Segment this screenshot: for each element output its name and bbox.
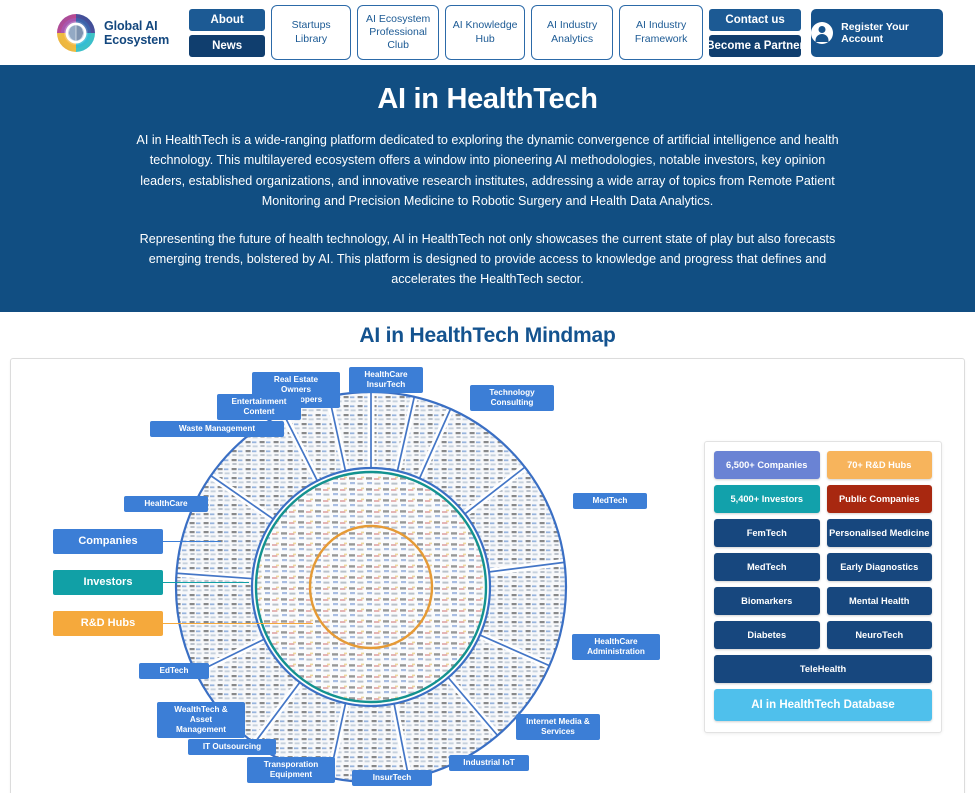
legend-item-femtech[interactable]: FemTech [714, 519, 820, 547]
ring-label-rd-hubs[interactable]: R&D Hubs [53, 611, 163, 637]
nav-stack-right: Contact us Become a Partner [709, 9, 801, 57]
sector-label-industrial-iot[interactable]: Industrial IoT [449, 755, 529, 771]
legend-item-biomarkers[interactable]: Biomarkers [714, 587, 820, 615]
sector-label-healthcare-insurtech[interactable]: HealthCare InsurTech [349, 367, 423, 394]
legend-item-diabetes[interactable]: Diabetes [714, 621, 820, 649]
sector-label-medtech[interactable]: MedTech [573, 493, 647, 509]
ring-label-investors[interactable]: Investors [53, 570, 163, 596]
legend-item-medtech[interactable]: MedTech [714, 553, 820, 581]
legend-item-investors[interactable]: 5,400+ Investors [714, 485, 820, 513]
sector-label-edtech[interactable]: EdTech [139, 663, 209, 679]
legend-item-telehealth[interactable]: TeleHealth [714, 655, 932, 683]
hero-paragraph-1: AI in HealthTech is a wide-ranging platf… [128, 130, 848, 212]
connector-rd-hubs [161, 623, 313, 625]
logo-line-1: Global AI [104, 19, 169, 33]
register-label: Register Your Account [841, 21, 943, 45]
sector-label-healthcare[interactable]: HealthCare [124, 496, 208, 512]
nav-ai-ecosystem-professional-club[interactable]: AI Ecosystem Professional Club [357, 5, 439, 60]
site-logo[interactable]: Global AI Ecosystem [55, 12, 169, 54]
become-a-partner-button[interactable]: Become a Partner [709, 35, 801, 57]
sector-label-healthcare-administration[interactable]: HealthCare Administration [572, 634, 660, 661]
sector-label-waste-management[interactable]: Waste Management [150, 421, 284, 437]
sector-label-it-outsourcing[interactable]: IT Outsourcing [188, 739, 276, 755]
connector-companies [161, 541, 221, 543]
page-title: AI in HealthTech [0, 83, 975, 116]
global-ai-ecosystem-logo-icon [55, 12, 97, 54]
sector-label-internet-media-services[interactable]: Internet Media & Services [516, 714, 600, 741]
sector-label-transporation-equipment[interactable]: Transporation Equipment [247, 757, 335, 784]
sector-label-technology-consulting[interactable]: Technology Consulting [470, 385, 554, 412]
legend-item-companies[interactable]: 6,500+ Companies [714, 451, 820, 479]
nav-startups-library[interactable]: Startups Library [271, 5, 351, 60]
hero-banner: AI in HealthTech AI in HealthTech is a w… [0, 65, 975, 312]
legend-item-early-diagnostics[interactable]: Early Diagnostics [827, 553, 933, 581]
contact-us-button[interactable]: Contact us [709, 9, 801, 31]
connector-investors [161, 582, 249, 584]
logo-wordmark: Global AI Ecosystem [104, 19, 169, 47]
about-button[interactable]: About [189, 9, 265, 31]
legend-item-personalised-medicine[interactable]: Personalised Medicine [827, 519, 933, 547]
legend-item-public-companies[interactable]: Public Companies [827, 485, 933, 513]
site-header: Global AI Ecosystem About News Startups … [0, 0, 975, 65]
legend-item-rd-hubs[interactable]: 70+ R&D Hubs [827, 451, 933, 479]
user-avatar-icon [811, 22, 833, 44]
nav-ai-knowledge-hub[interactable]: AI Knowledge Hub [445, 5, 525, 60]
logo-line-2: Ecosystem [104, 33, 169, 47]
legend-item-mental-health[interactable]: Mental Health [827, 587, 933, 615]
mindmap-panel: Real Estate Owners & Developers HealthCa… [10, 358, 965, 793]
legend-item-neurotech[interactable]: NeuroTech [827, 621, 933, 649]
ring-label-companies[interactable]: Companies [53, 529, 163, 555]
register-your-account-button[interactable]: Register Your Account [811, 9, 943, 57]
sector-label-wealthtech-asset-management[interactable]: WealthTech & Asset Management [157, 702, 245, 739]
nav-ai-industry-framework[interactable]: AI Industry Framework [619, 5, 703, 60]
news-button[interactable]: News [189, 35, 265, 57]
legend-item-ai-in-healthtech-database[interactable]: AI in HealthTech Database [714, 689, 932, 721]
nav-ai-industry-analytics[interactable]: AI Industry Analytics [531, 5, 613, 60]
sector-label-entertainment-content[interactable]: Entertainment Content [217, 394, 301, 421]
hero-paragraph-2: Representing the future of health techno… [128, 229, 848, 290]
nav-stack-left: About News [189, 9, 265, 57]
sector-label-insurtech[interactable]: InsurTech [352, 770, 432, 786]
mindmap-title: AI in HealthTech Mindmap [0, 312, 975, 358]
mindmap-legend-panel: 6,500+ Companies 70+ R&D Hubs 5,400+ Inv… [704, 441, 942, 733]
